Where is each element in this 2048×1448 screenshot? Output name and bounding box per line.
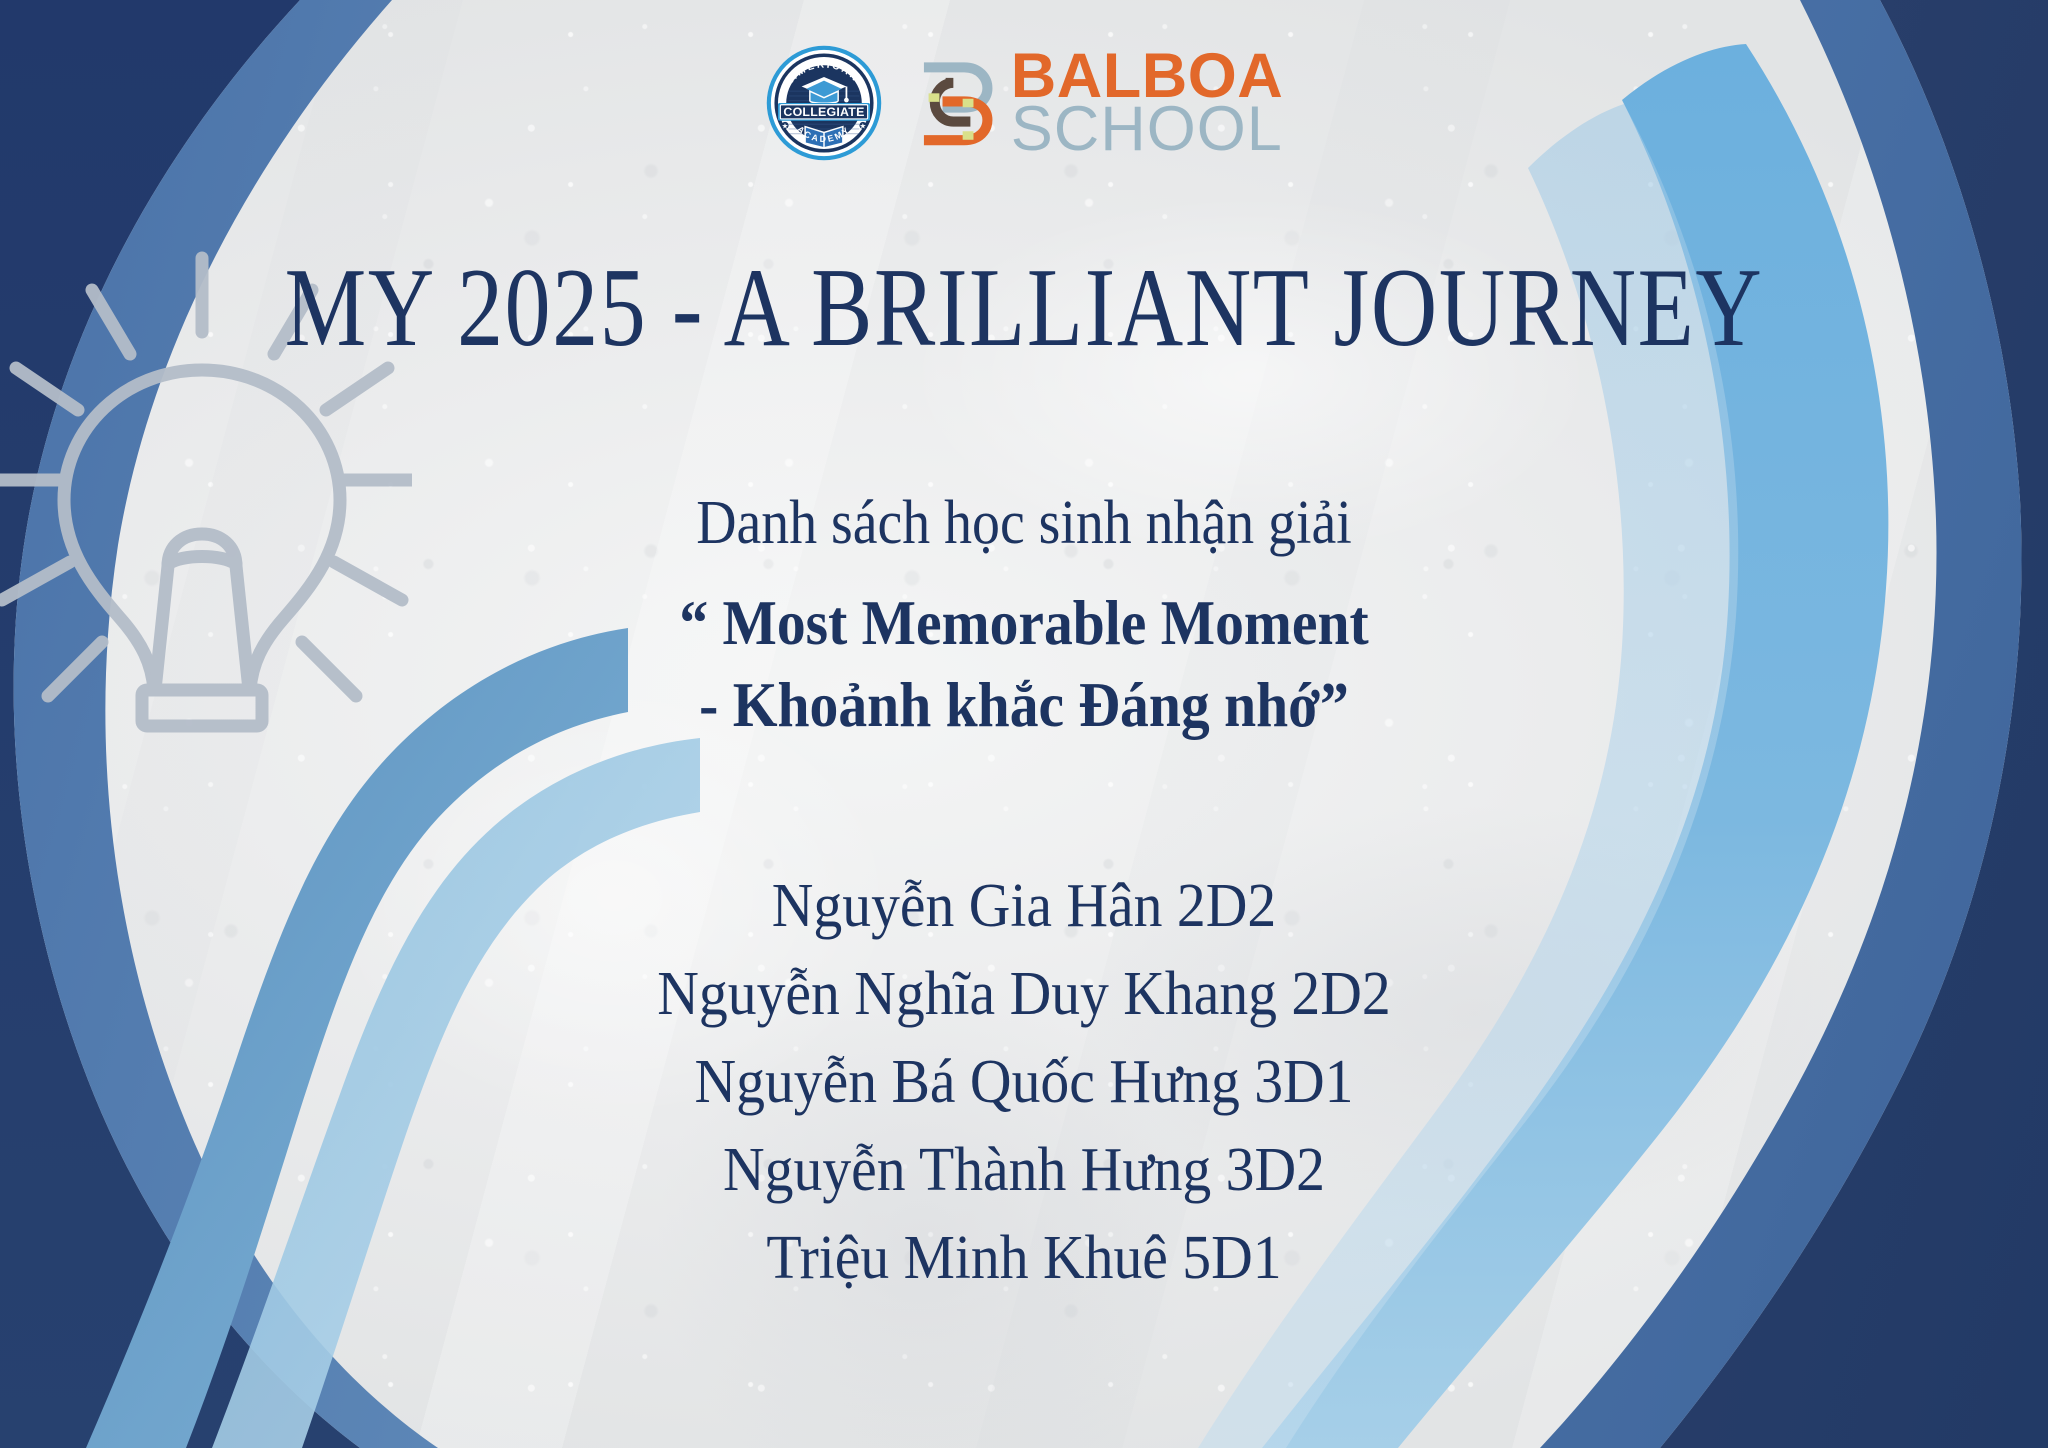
list-item: Nguyễn Nghĩa Duy Khang 2D2 [72,950,1977,1038]
list-item: Nguyễn Bá Quốc Hưng 3D1 [72,1038,1977,1126]
american-collegiate-academy-seal-icon: COLLEGIATE AMERICAN ACADEMY ★ ★ [765,44,883,162]
seal-star-right-icon: ★ [859,121,866,130]
award-line-1: “ Most Memorable Moment [102,582,1945,664]
balboa-mark-icon [919,55,997,151]
seal-band-text: COLLEGIATE [783,105,864,119]
award-line-2: - Khoảnh khắc Đáng nhớ” [102,664,1945,746]
balboa-school-logo: BALBOA SCHOOL [919,50,1283,156]
list-item: Triệu Minh Khuê 5D1 [72,1214,1977,1302]
poster-canvas: COLLEGIATE AMERICAN ACADEMY ★ ★ [0,0,2048,1448]
page-title: MY 2025 - A BRILLIANT JOURNEY [184,252,1863,364]
seal-star-left-icon: ★ [781,121,788,130]
balboa-wordmark-line2: SCHOOL [1011,103,1283,156]
logo-row: COLLEGIATE AMERICAN ACADEMY ★ ★ [0,42,2048,164]
subtitle-text: Danh sách học sinh nhận giải [102,490,1945,557]
award-name: “ Most Memorable Moment - Khoảnh khắc Đá… [102,582,1945,746]
student-name-list: Nguyễn Gia Hân 2D2 Nguyễn Nghĩa Duy Khan… [72,862,1977,1302]
list-item: Nguyễn Gia Hân 2D2 [72,862,1977,950]
list-item: Nguyễn Thành Hưng 3D2 [72,1126,1977,1214]
